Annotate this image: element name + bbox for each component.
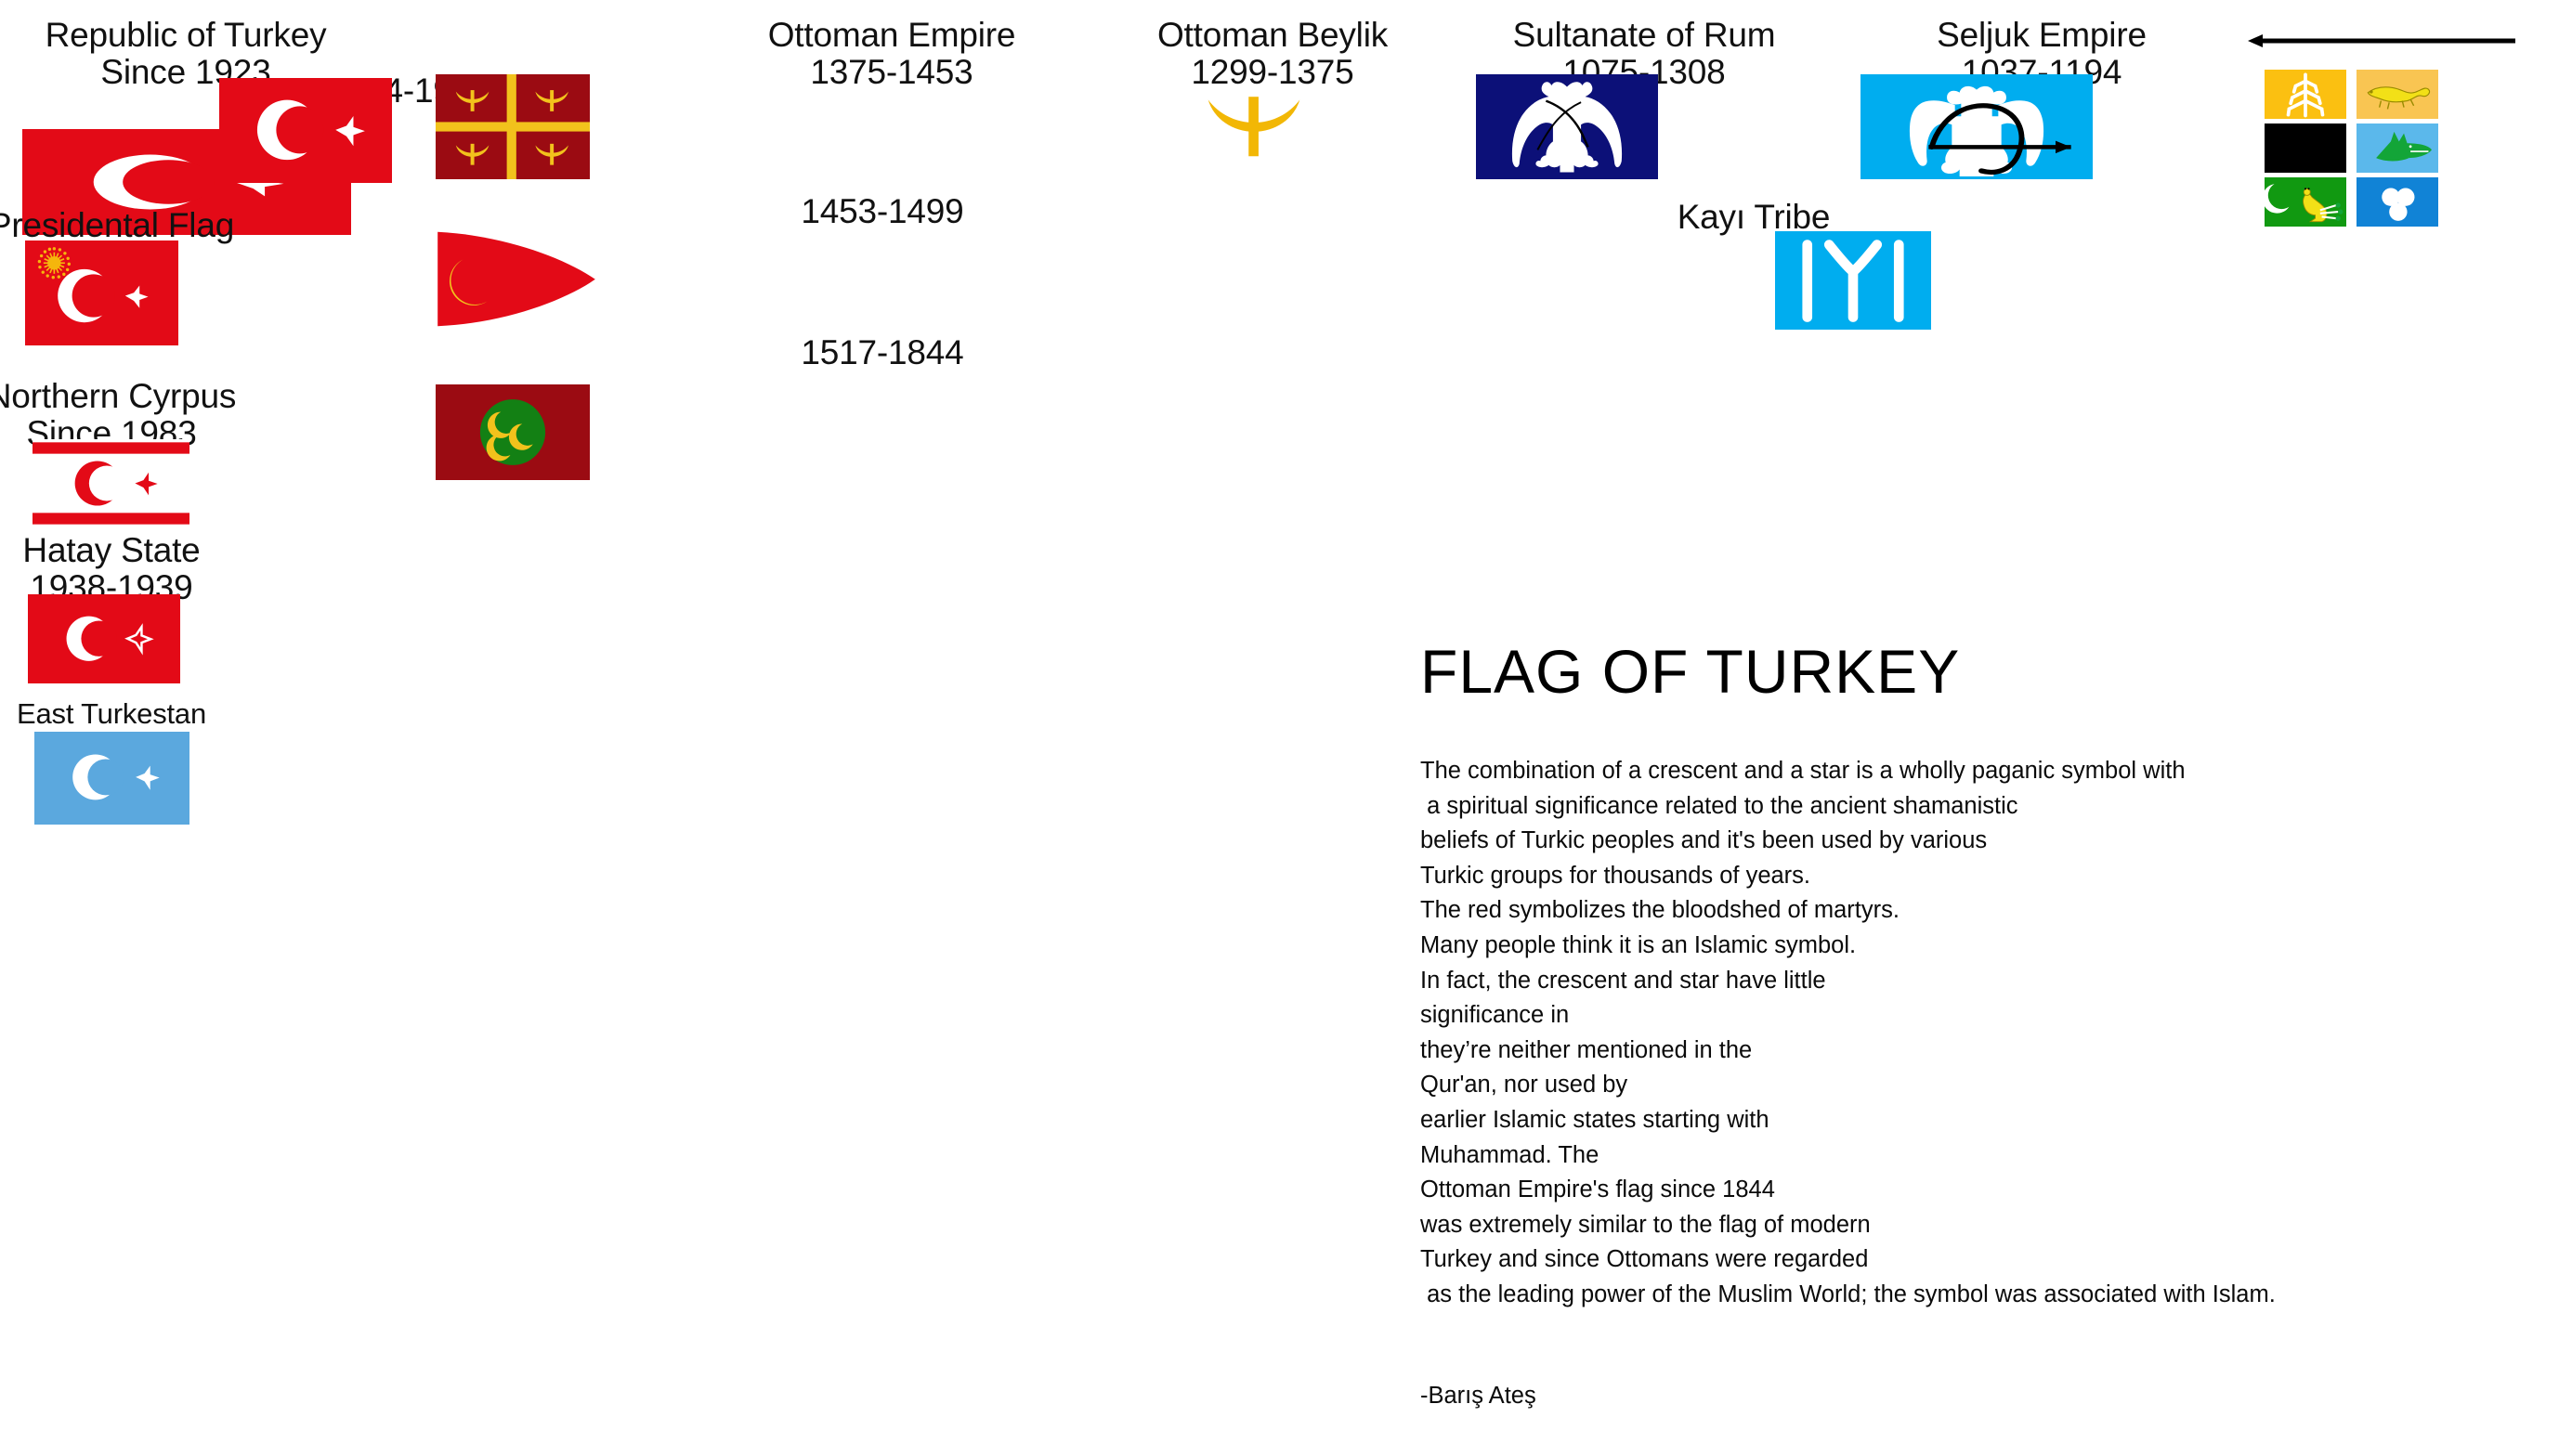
caption-east-turkestan: East Turkestan [0, 698, 297, 729]
flag-1844-1923[interactable] [219, 78, 392, 183]
flag-ottoman-beylik[interactable] [1198, 89, 1310, 162]
seljuk-eagle-bow-arrow-icon [1860, 74, 2093, 179]
mini-flag-wolf-head[interactable] [2357, 123, 2438, 173]
flag-ottoman-1517-1844[interactable] [436, 384, 590, 480]
three-white-discs-icon [2357, 177, 2438, 227]
caption-presidental-flag: Presidental Flag [0, 207, 297, 244]
flag-east-turkestan[interactable] [34, 732, 189, 825]
caption-kayi-tribe: Kayı Tribe [1591, 199, 1916, 236]
crescent-and-peacock-icon [2265, 177, 2346, 227]
east-turkestan-crescent-star-icon [34, 732, 189, 825]
body-paragraph: The combination of a crescent and a star… [1420, 754, 2572, 1313]
northern-cyprus-icon [33, 439, 189, 527]
tree-tamga-icon [2265, 70, 2346, 119]
flag-seljuk-empire[interactable] [1860, 74, 2093, 179]
caption-ottoman-empire-1375-1453: Ottoman Empire 1375-1453 [706, 17, 1077, 91]
timeline-arrow-left [2248, 30, 2517, 52]
mini-flag-tree-tamga[interactable] [2265, 70, 2346, 119]
gold-crescent-pennant-icon [437, 230, 596, 328]
iyi-tamga-icon [1775, 231, 1931, 330]
three-crescents-disc-icon [436, 384, 590, 480]
flag-sultanate-of-rum[interactable] [1476, 74, 1658, 179]
caption-ottoman-1453-1499: 1453-1499 [734, 193, 1031, 230]
flag-ottoman-1453-1499[interactable] [437, 230, 596, 328]
mini-flag-black[interactable] [2265, 123, 2346, 173]
flag-hatay-state[interactable] [28, 594, 180, 683]
caption-ottoman-beylik: Ottoman Beylik 1299-1375 [1087, 17, 1458, 91]
quartered-cross-four-crescents-icon [436, 74, 590, 179]
green-wolf-head-icon [2357, 123, 2438, 173]
yellow-dragon-icon [2357, 70, 2438, 119]
hatay-crescent-outlined-star-icon [28, 594, 180, 683]
flag-presidental[interactable] [25, 240, 178, 345]
flag-ottoman-empire-1375-1453[interactable] [436, 74, 590, 179]
caption-ottoman-1517-1844: 1517-1844 [734, 334, 1031, 371]
flag-northern-cyprus[interactable] [33, 439, 189, 527]
mini-flag-three-discs[interactable] [2357, 177, 2438, 227]
gold-crescent-standard-icon [1198, 89, 1310, 162]
page-title: FLAG OF TURKEY [1420, 636, 1960, 707]
presidental-crescent-star-sun-icon [25, 240, 178, 345]
arrow-left-icon [2248, 30, 2517, 52]
double-headed-eagle-icon [1476, 74, 1658, 179]
mini-flag-peacock[interactable] [2265, 177, 2346, 227]
crescent-and-star-icon [219, 78, 392, 183]
signature: -Barış Ateş [1420, 1383, 1536, 1410]
mini-flag-dragon[interactable] [2357, 70, 2438, 119]
flag-kayi-tribe[interactable] [1775, 231, 1931, 330]
